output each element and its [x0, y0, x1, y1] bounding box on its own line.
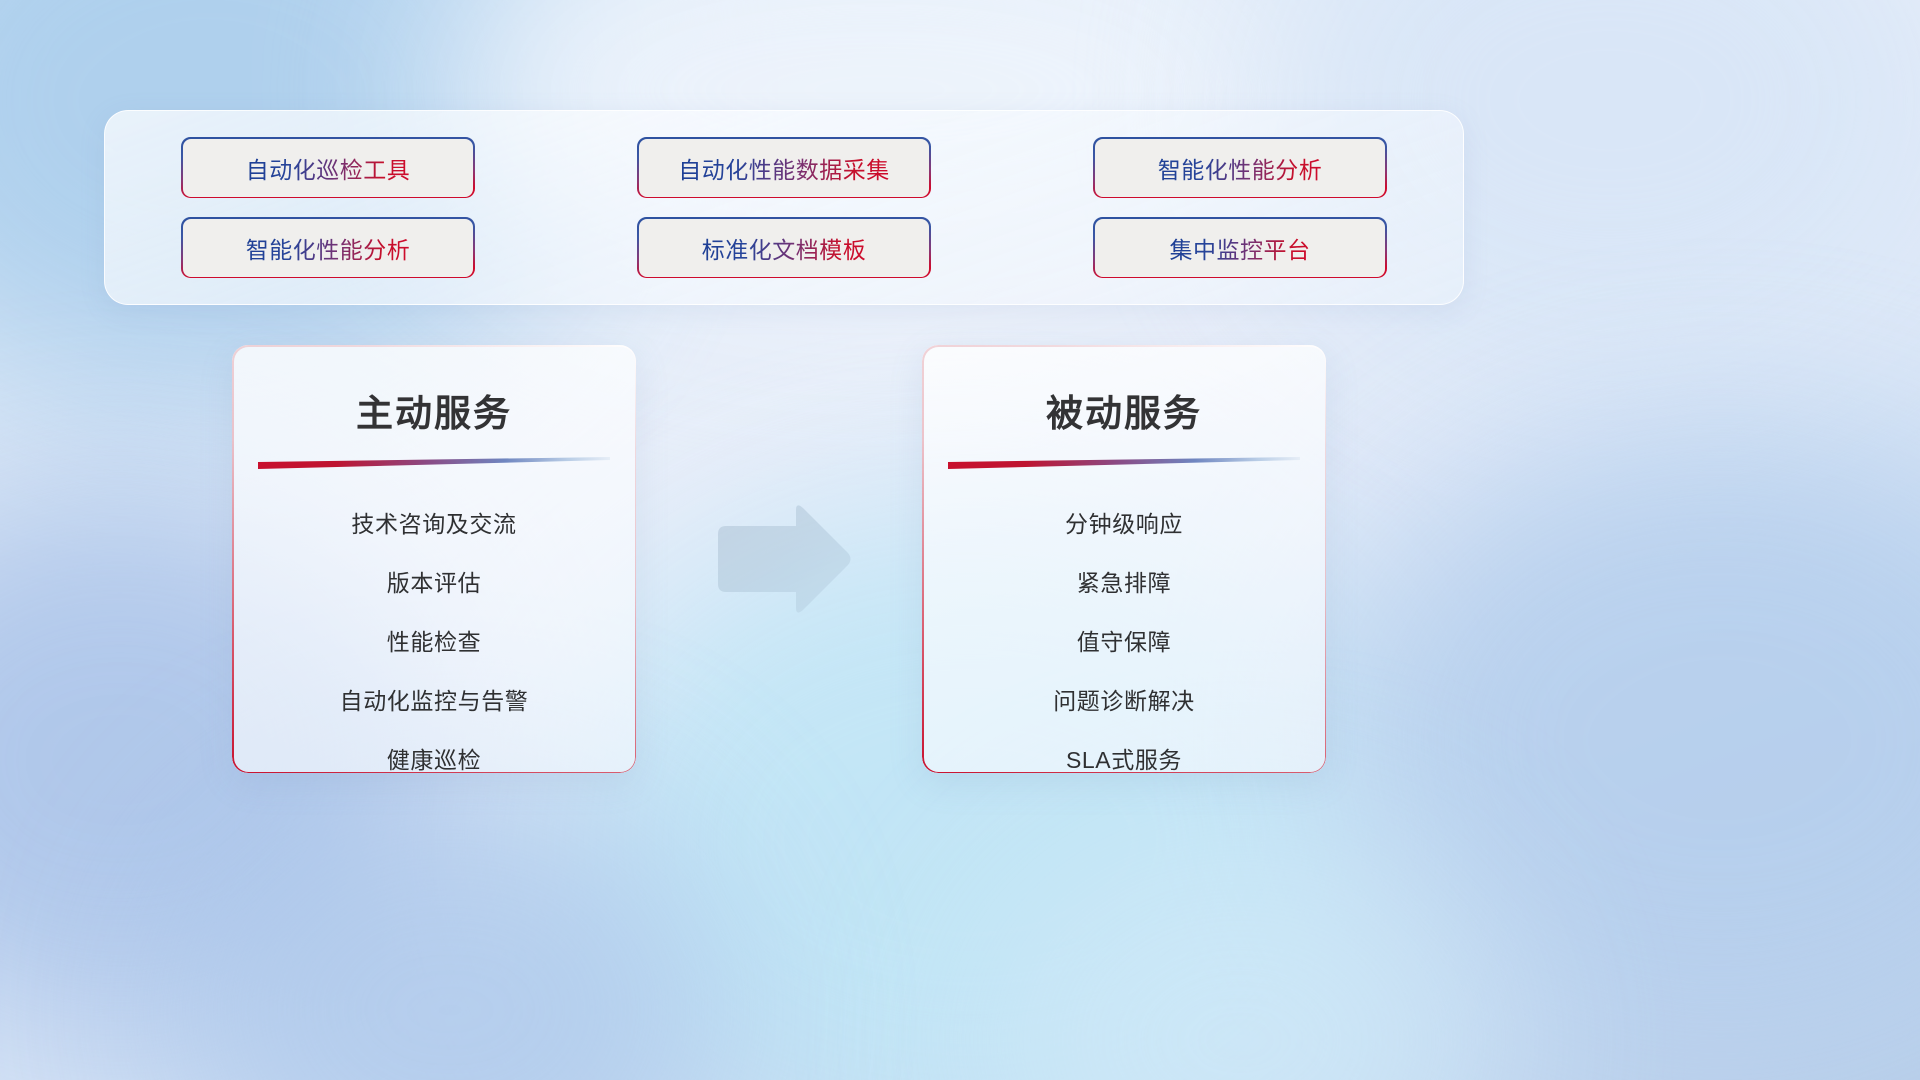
capability-tag[interactable]: 智能化性能分析: [183, 219, 473, 277]
service-item-list: 分钟级响应 紧急排障 值守保障 问题诊断解决 SLA式服务: [952, 495, 1296, 773]
service-item: 技术咨询及交流: [351, 495, 516, 554]
arrow-right-icon: [714, 504, 854, 614]
capability-tag-label: 集中监控平台: [1170, 231, 1311, 265]
service-item: 分钟级响应: [1065, 495, 1183, 554]
capability-tag[interactable]: 标准化文档模板: [639, 219, 929, 277]
capability-row-1: 自动化巡检工具 自动化性能数据采集 智能化性能分析: [183, 139, 1385, 197]
service-item: 自动化监控与告警: [340, 672, 529, 731]
service-card-proactive: 主动服务 技术咨询及交流 版本评估 性能检查 自动化监控与告警 健康巡检: [232, 345, 636, 773]
title-divider: [948, 457, 1300, 473]
capability-tag-label: 智能化性能分析: [1158, 151, 1323, 185]
service-item: 问题诊断解决: [1053, 672, 1195, 731]
capability-tag[interactable]: 自动化性能数据采集: [639, 139, 929, 197]
service-item: 版本评估: [387, 554, 481, 613]
card-title: 主动服务: [356, 383, 512, 437]
capability-tag-label: 智能化性能分析: [246, 231, 411, 265]
capability-panel: 自动化巡检工具 自动化性能数据采集 智能化性能分析 智能化性能分析 标准化文档模…: [104, 110, 1464, 305]
service-item-list: 技术咨询及交流 版本评估 性能检查 自动化监控与告警 健康巡检: [262, 495, 606, 773]
capability-tag-label: 自动化巡检工具: [246, 151, 411, 185]
capability-tag-label: 标准化文档模板: [702, 231, 867, 265]
service-item: 紧急排障: [1077, 554, 1171, 613]
capability-tag[interactable]: 智能化性能分析: [1095, 139, 1385, 197]
capability-tag-label: 自动化性能数据采集: [678, 151, 890, 185]
service-item: 健康巡检: [387, 731, 481, 773]
service-item: SLA式服务: [1066, 731, 1182, 773]
capability-row-2: 智能化性能分析 标准化文档模板 集中监控平台: [183, 219, 1385, 277]
capability-tag[interactable]: 集中监控平台: [1095, 219, 1385, 277]
service-item: 性能检查: [387, 613, 481, 672]
card-title: 被动服务: [1046, 383, 1202, 437]
service-item: 值守保障: [1077, 613, 1171, 672]
capability-tag[interactable]: 自动化巡检工具: [183, 139, 473, 197]
title-divider: [258, 457, 610, 473]
service-card-reactive: 被动服务 分钟级响应 紧急排障 值守保障 问题诊断解决 SLA式服务: [922, 345, 1326, 773]
